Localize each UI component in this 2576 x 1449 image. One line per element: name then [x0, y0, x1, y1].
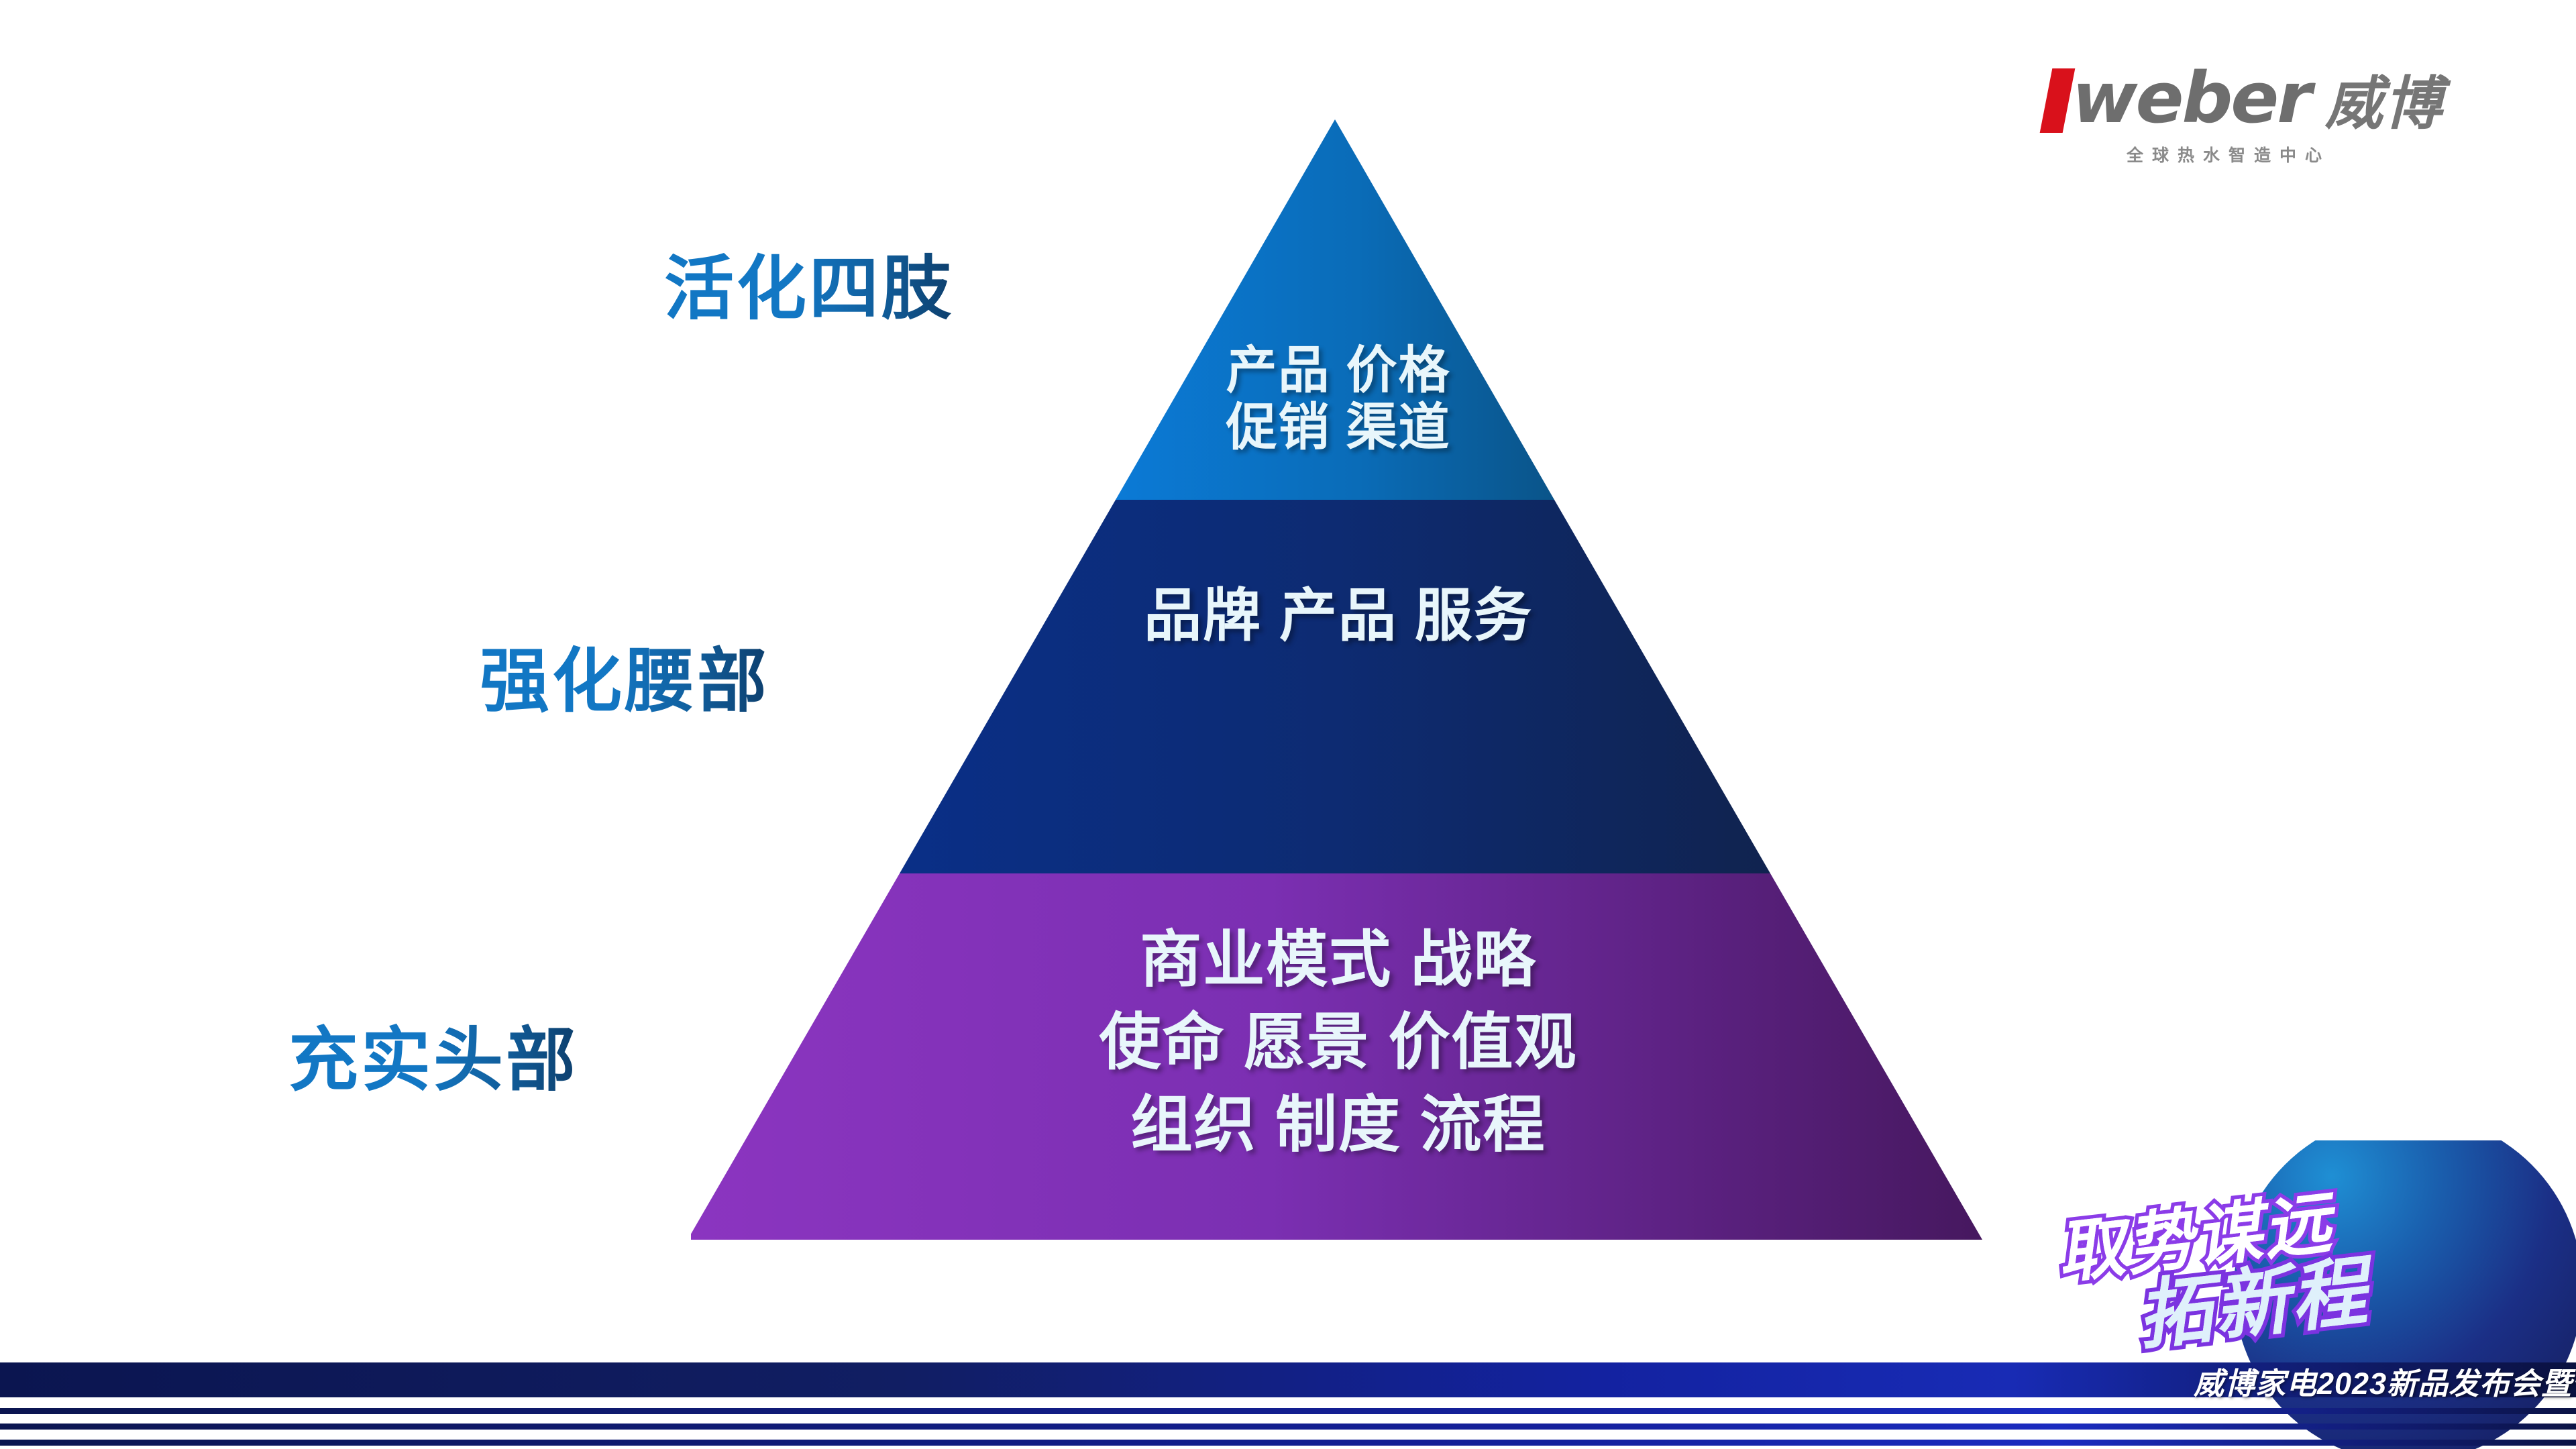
footer-stripe-3: [0, 1440, 2576, 1446]
brand-logo-row: weber 威博: [2046, 60, 2475, 133]
footer-band: [0, 1362, 2576, 1397]
side-label-base: 充实头部: [288, 1003, 578, 1104]
pyramid-tier-base: [691, 873, 1982, 1240]
brand-slash-icon: [2040, 68, 2076, 133]
side-label-top: 活化四肢: [664, 231, 954, 333]
slide-canvas: weber 威博 全球热水智造中心: [0, 0, 2576, 1449]
pyramid-tier-top: [1116, 119, 1554, 500]
brand-wordmark-cn: 威博: [2325, 75, 2443, 133]
brand-tagline: 全球热水智造中心: [2127, 142, 2475, 166]
footer-stripe-2: [0, 1424, 2576, 1430]
event-badge: 取势谋远 取势谋远 拓新程 拓新程 威博家电2023新品发布会暨代理商大会: [2033, 1140, 2576, 1449]
brand-wordmark: weber: [2072, 63, 2310, 133]
side-label-middle: 强化腰部: [480, 624, 769, 725]
footer-stripe-1: [0, 1408, 2576, 1414]
brand-logo: weber 威博 全球热水智造中心: [2046, 60, 2475, 168]
pyramid-tier-middle: [900, 500, 1770, 873]
badge-subtitle: 威博家电2023新品发布会暨代理商大会: [2194, 1359, 2576, 1403]
